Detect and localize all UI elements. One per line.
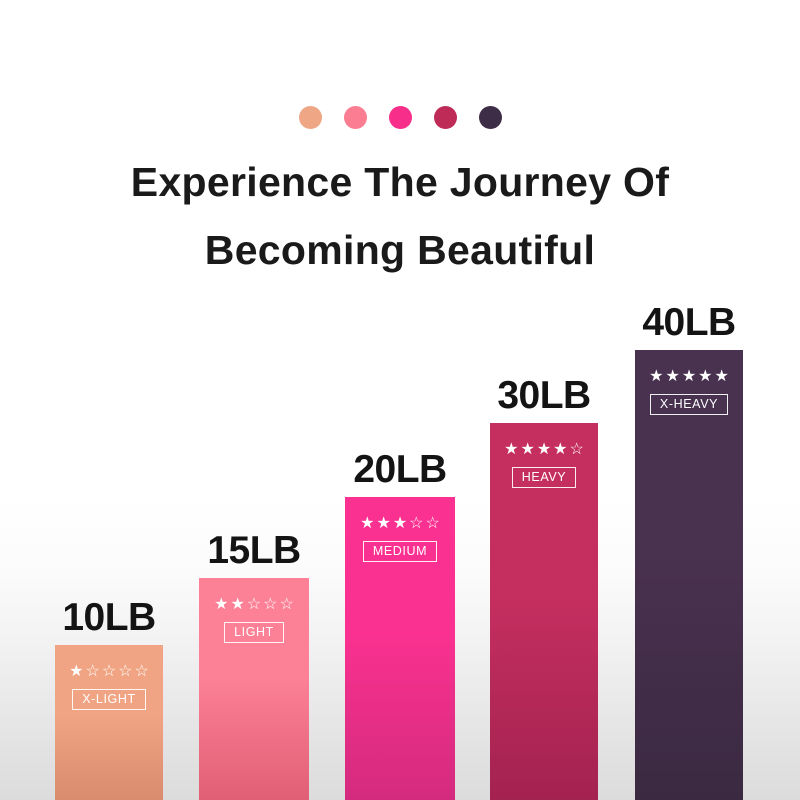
star-filled-icon: ★ [230,597,244,613]
bar-content: ★★★★★X-HEAVY [635,350,743,415]
resistance-level-badge: HEAVY [512,467,576,488]
bar-content: ★☆☆☆☆X-LIGHT [55,645,163,710]
star-filled-icon: ★ [360,516,374,532]
star-empty-icon: ☆ [426,516,440,532]
star-filled-icon: ★ [393,516,407,532]
product-infographic-page: Experience The Journey Of Becoming Beaut… [0,0,800,800]
star-filled-icon: ★ [715,369,729,385]
bar-group-40lb[interactable]: 40LB★★★★★X-HEAVY [635,292,743,800]
star-filled-icon: ★ [698,369,712,385]
bar-15lb[interactable]: ★★☆☆☆LIGHT [199,578,309,800]
bar-weight-label: 10LB [55,598,163,637]
star-filled-icon: ★ [665,369,679,385]
star-filled-icon: ★ [649,369,663,385]
resistance-level-badge: X-LIGHT [72,689,146,710]
star-empty-icon: ☆ [85,664,99,680]
star-filled-icon: ★ [214,597,228,613]
bar-group-20lb[interactable]: 20LB★★★☆☆MEDIUM [345,439,455,800]
star-rating: ★★★★☆ [504,442,584,458]
bar-weight-label: 15LB [199,531,309,570]
bar-group-30lb[interactable]: 30LB★★★★☆HEAVY [490,365,598,800]
star-empty-icon: ☆ [102,664,116,680]
star-filled-icon: ★ [537,442,551,458]
resistance-band-bar-chart: 10LB★☆☆☆☆X-LIGHT15LB★★☆☆☆LIGHT20LB★★★☆☆M… [0,0,800,800]
star-empty-icon: ☆ [570,442,584,458]
star-empty-icon: ☆ [135,664,149,680]
bar-content: ★★★☆☆MEDIUM [345,497,455,562]
star-rating: ★★☆☆☆ [214,597,294,613]
star-rating: ★☆☆☆☆ [69,664,149,680]
resistance-level-badge: LIGHT [224,622,284,643]
bar-weight-label: 30LB [490,376,598,415]
star-filled-icon: ★ [520,442,534,458]
bar-weight-label: 20LB [345,450,455,489]
star-filled-icon: ★ [682,369,696,385]
bar-content: ★★☆☆☆LIGHT [199,578,309,643]
bar-30lb[interactable]: ★★★★☆HEAVY [490,423,598,800]
star-filled-icon: ★ [504,442,518,458]
star-empty-icon: ☆ [409,516,423,532]
star-empty-icon: ☆ [118,664,132,680]
star-rating: ★★★★★ [649,369,729,385]
star-empty-icon: ☆ [247,597,261,613]
bar-group-15lb[interactable]: 15LB★★☆☆☆LIGHT [199,520,309,800]
bar-group-10lb[interactable]: 10LB★☆☆☆☆X-LIGHT [55,587,163,800]
bar-10lb[interactable]: ★☆☆☆☆X-LIGHT [55,645,163,800]
star-filled-icon: ★ [69,664,83,680]
bar-40lb[interactable]: ★★★★★X-HEAVY [635,350,743,800]
star-rating: ★★★☆☆ [360,516,440,532]
resistance-level-badge: X-HEAVY [650,394,728,415]
bar-content: ★★★★☆HEAVY [490,423,598,488]
bar-weight-label: 40LB [635,303,743,342]
star-filled-icon: ★ [553,442,567,458]
resistance-level-badge: MEDIUM [363,541,437,562]
star-filled-icon: ★ [376,516,390,532]
star-empty-icon: ☆ [263,597,277,613]
bar-20lb[interactable]: ★★★☆☆MEDIUM [345,497,455,800]
star-empty-icon: ☆ [280,597,294,613]
